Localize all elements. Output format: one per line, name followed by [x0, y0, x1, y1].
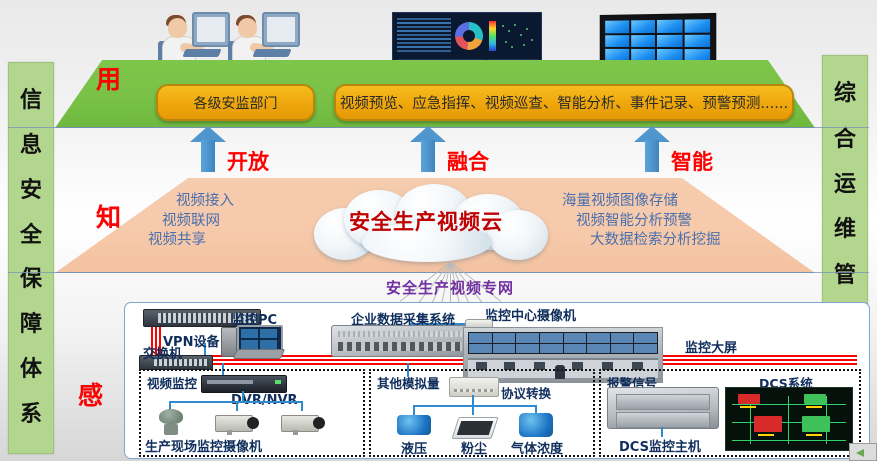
hydraulic-sensor-icon	[397, 415, 431, 435]
dust-label: 粉尘	[461, 438, 487, 457]
left-panel-char-3: 安	[20, 180, 42, 202]
cloud-title: 安全生产视频云	[292, 206, 560, 236]
arrow-shaft	[421, 140, 435, 172]
ptz-camera-icon	[155, 409, 187, 435]
right-panel-char-5: 管	[834, 265, 856, 287]
control-room-video-wall	[468, 332, 658, 354]
left-vertical-panel-information-security: 信 息 安 全 保 障 体 系	[8, 62, 54, 454]
arrow-shaft	[201, 140, 215, 172]
cloud-left-capabilities: 视频接入 视频联网 视频共享	[148, 192, 234, 251]
link-dvr-fanout-v	[242, 391, 244, 401]
screen-surface	[267, 17, 295, 42]
private-network-label: 安全生产视频专网	[300, 277, 600, 298]
link-sensor1	[413, 405, 415, 415]
dashboard-table-widget	[397, 18, 451, 54]
layer-tag-sense: 感	[78, 376, 103, 412]
enterprise-collector-icon	[331, 325, 469, 357]
keyboard-icon	[252, 49, 291, 57]
head-shape	[238, 18, 257, 38]
cloud-left-item-1: 视频接入	[148, 192, 234, 212]
infrastructure-panel: VPN设备 交换机 监控PC 企业数据采集系统 监控中心摄像机	[124, 302, 870, 459]
functions-button[interactable]: 视频预览、应急指挥、视频巡查、智能分析、事件记录、预警预测......	[334, 84, 794, 121]
switch-label: 交换机	[143, 343, 182, 362]
dvr-nvr-icon	[201, 375, 287, 393]
hydraulic-label: 液压	[401, 438, 427, 457]
left-panel-char-7: 体	[20, 359, 42, 381]
arrow-label-smart: 智能	[671, 146, 713, 176]
link-conv-fanout-v	[472, 395, 474, 405]
left-panel-char-6: 障	[20, 314, 42, 336]
right-panel-char-1: 综	[834, 83, 856, 105]
link-conv-fanout-h	[413, 405, 537, 407]
arrow-shaft	[645, 140, 659, 172]
left-panel-char-2: 息	[20, 135, 42, 157]
link-sensor2	[472, 405, 474, 415]
right-panel-char-2: 合	[834, 129, 856, 151]
bullet-camera-icon-1	[215, 413, 261, 433]
monitor-icon	[192, 12, 230, 47]
dcs-host-label: DCS监控主机	[619, 436, 701, 455]
cloud-right-item-2: 视频智能分析预警	[562, 212, 721, 232]
video-wall-screens	[605, 19, 710, 62]
center-camera-label: 监控中心摄像机	[485, 305, 576, 324]
pc-keyboard-icon	[233, 349, 285, 359]
bullet-camera-icon-2	[281, 413, 327, 433]
arrow-label-open: 开放	[227, 146, 269, 176]
keyboard-icon	[182, 49, 221, 57]
left-panel-char-1: 信	[20, 90, 42, 112]
gas-sensor-icon	[519, 413, 553, 437]
arrow-smart-icon	[634, 126, 670, 172]
head-shape	[168, 18, 187, 38]
layer-tag-use: 用	[96, 60, 121, 96]
link-cam3	[301, 401, 303, 411]
cloud-right-item-1: 海量视频图像存储	[562, 192, 721, 212]
site-cameras-label: 生产现场监控摄像机	[145, 436, 262, 455]
dust-sensor-icon	[451, 417, 498, 439]
cloud-shape: 安全生产视频云	[292, 184, 560, 264]
dcs-host-icon	[607, 387, 719, 429]
left-panel-char-8: 系	[20, 404, 42, 426]
cloud-left-item-3: 视频共享	[148, 231, 234, 251]
left-panel-char-4: 全	[20, 225, 42, 247]
cloud-right-capabilities: 海量视频图像存储 视频智能分析预警 大数据检索分析挖掘	[562, 192, 721, 251]
arrow-open-icon	[190, 126, 226, 172]
right-panel-char-4: 维	[834, 219, 856, 241]
video-monitoring-title: 视频监控	[147, 373, 197, 392]
dcs-system-screen	[725, 387, 853, 451]
arrow-label-fusion: 融合	[447, 146, 489, 176]
dashboard-donut-chart	[455, 22, 483, 50]
screen-surface	[197, 17, 225, 42]
dashboard-scatter-widget	[500, 21, 536, 51]
cloud-right-item-3: 大数据检索分析挖掘	[562, 231, 721, 251]
corner-indicator	[849, 443, 877, 461]
protocol-converter-icon	[449, 377, 499, 397]
diagram-canvas: 信 息 安 全 保 障 体 系 综 合 运 维 管 理 体 系	[0, 0, 877, 461]
protocol-converter-label: 协议转换	[501, 383, 551, 402]
right-panel-char-3: 运	[834, 174, 856, 196]
cloud-left-item-2: 视频联网	[148, 212, 234, 232]
link-cam2	[236, 401, 238, 411]
video-wall-label: 监控大屏	[685, 337, 737, 356]
monitor-icon	[262, 12, 300, 47]
arrow-fusion-icon	[410, 126, 446, 172]
analog-signals-title: 其他模拟量	[377, 373, 440, 392]
layer-tag-know: 知	[96, 198, 121, 234]
dept-button[interactable]: 各级安监部门	[156, 84, 315, 121]
gas-concentration-label: 气体浓度	[511, 438, 563, 457]
dashboard-colorbar	[489, 21, 496, 51]
